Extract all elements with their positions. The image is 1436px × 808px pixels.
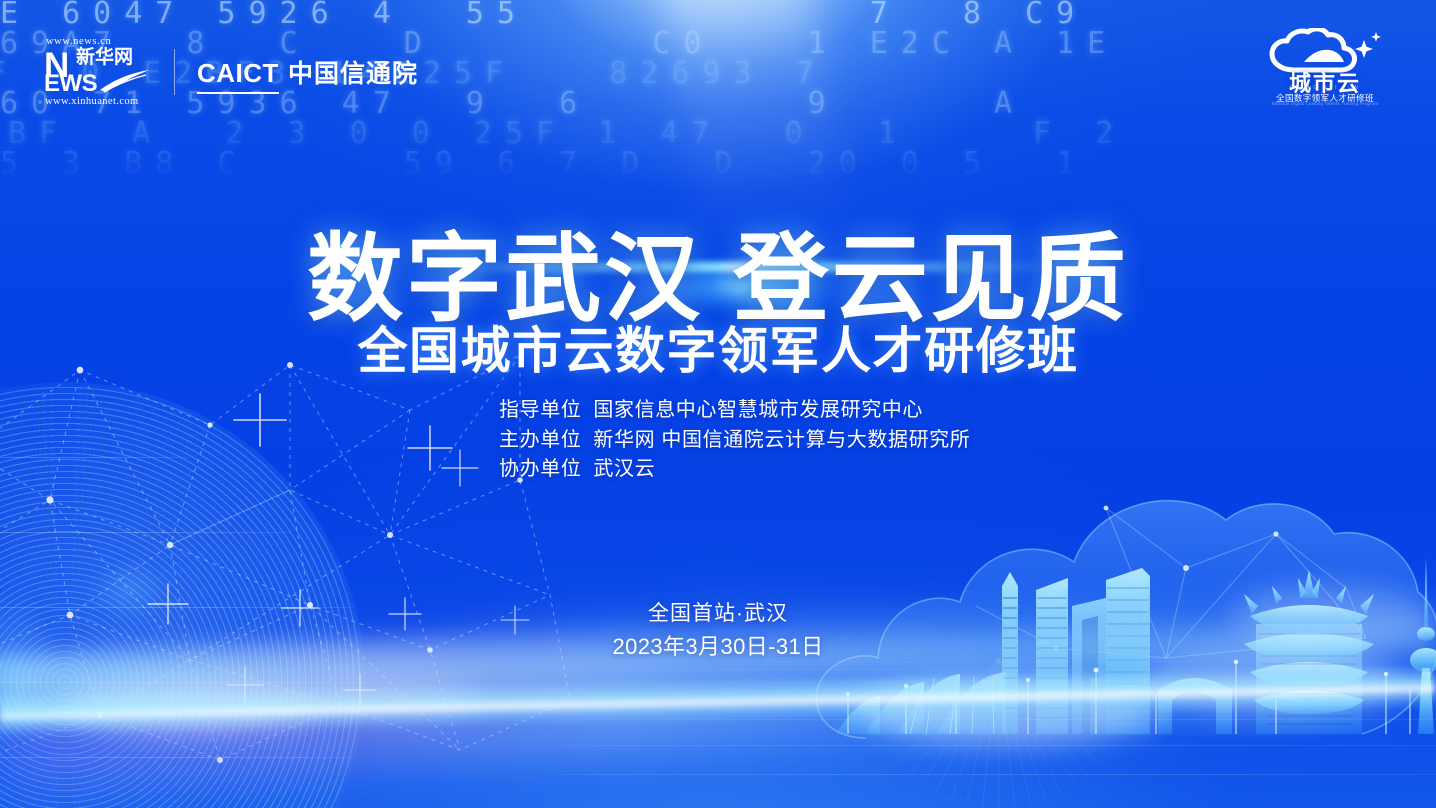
event-date: 2023年3月30日-31日 bbox=[0, 630, 1436, 664]
organizer-label: 协办单位 bbox=[499, 455, 581, 485]
organizer-list: 指导单位国家信息中心智慧城市发展研究中心主办单位新华网 中国信通院云计算与大数据… bbox=[499, 396, 970, 485]
caict-english: CAICT bbox=[197, 58, 279, 89]
organizer-value: 武汉云 bbox=[593, 458, 655, 480]
city-cloud-logo[interactable]: 城市云 CHENG SHI YUN 全国数字领军人才研修班 National D… bbox=[1260, 28, 1390, 106]
caict-logo[interactable]: CAICT 中国信通院 bbox=[197, 54, 418, 90]
city-cloud-subtitle-en: National Digital Leading Talents Trainin… bbox=[1266, 101, 1384, 106]
page-title: 数字武汉 登云见质 bbox=[0, 226, 1436, 334]
organizer-value: 国家信息中心智慧城市发展研究中心 bbox=[593, 399, 923, 421]
organizer-row: 主办单位新华网 中国信通院云计算与大数据研究所 bbox=[499, 426, 970, 456]
xinhua-chinese-name: 新华网 bbox=[76, 48, 133, 67]
cloud-puff bbox=[860, 674, 1160, 744]
organizer-label: 指导单位 bbox=[499, 396, 581, 426]
logo-bar: www.news.cn N EWS 新华网 www.xinhuanet.com … bbox=[44, 36, 418, 108]
xinhua-url-bottom: www.xinhuanet.com bbox=[45, 96, 139, 107]
cloud-puff bbox=[60, 682, 320, 730]
network-mesh bbox=[0, 330, 580, 808]
sparkle-icon bbox=[1355, 32, 1381, 58]
city-cloud-pinyin: CHENG SHI YUN bbox=[1260, 85, 1390, 91]
logo-divider bbox=[174, 49, 175, 95]
organizer-row: 指导单位国家信息中心智慧城市发展研究中心 bbox=[499, 396, 970, 426]
poster-canvas: E 6047 5926 4 55 7 8 C9 69A7 8 C D C0 1 … bbox=[0, 0, 1436, 808]
organizer-row: 协办单位武汉云 bbox=[499, 455, 970, 485]
organizer-value: 新华网 中国信通院云计算与大数据研究所 bbox=[593, 429, 970, 451]
page-subtitle: 全国城市云数字领军人才研修班 bbox=[0, 323, 1436, 379]
swoosh-icon bbox=[100, 69, 150, 93]
xinhua-letters-ews: EWS bbox=[44, 73, 97, 95]
event-info: 全国首站·武汉 2023年3月30日-31日 bbox=[0, 598, 1436, 664]
caict-chinese: 中国信通院 bbox=[288, 54, 418, 90]
xinhua-logo[interactable]: www.news.cn N EWS 新华网 www.xinhuanet.com bbox=[44, 36, 152, 108]
event-place: 全国首站·武汉 bbox=[0, 598, 1436, 630]
organizer-label: 主办单位 bbox=[499, 426, 581, 456]
xinhua-wordmark: N EWS 新华网 bbox=[44, 49, 152, 95]
cloud-puff bbox=[300, 680, 480, 720]
